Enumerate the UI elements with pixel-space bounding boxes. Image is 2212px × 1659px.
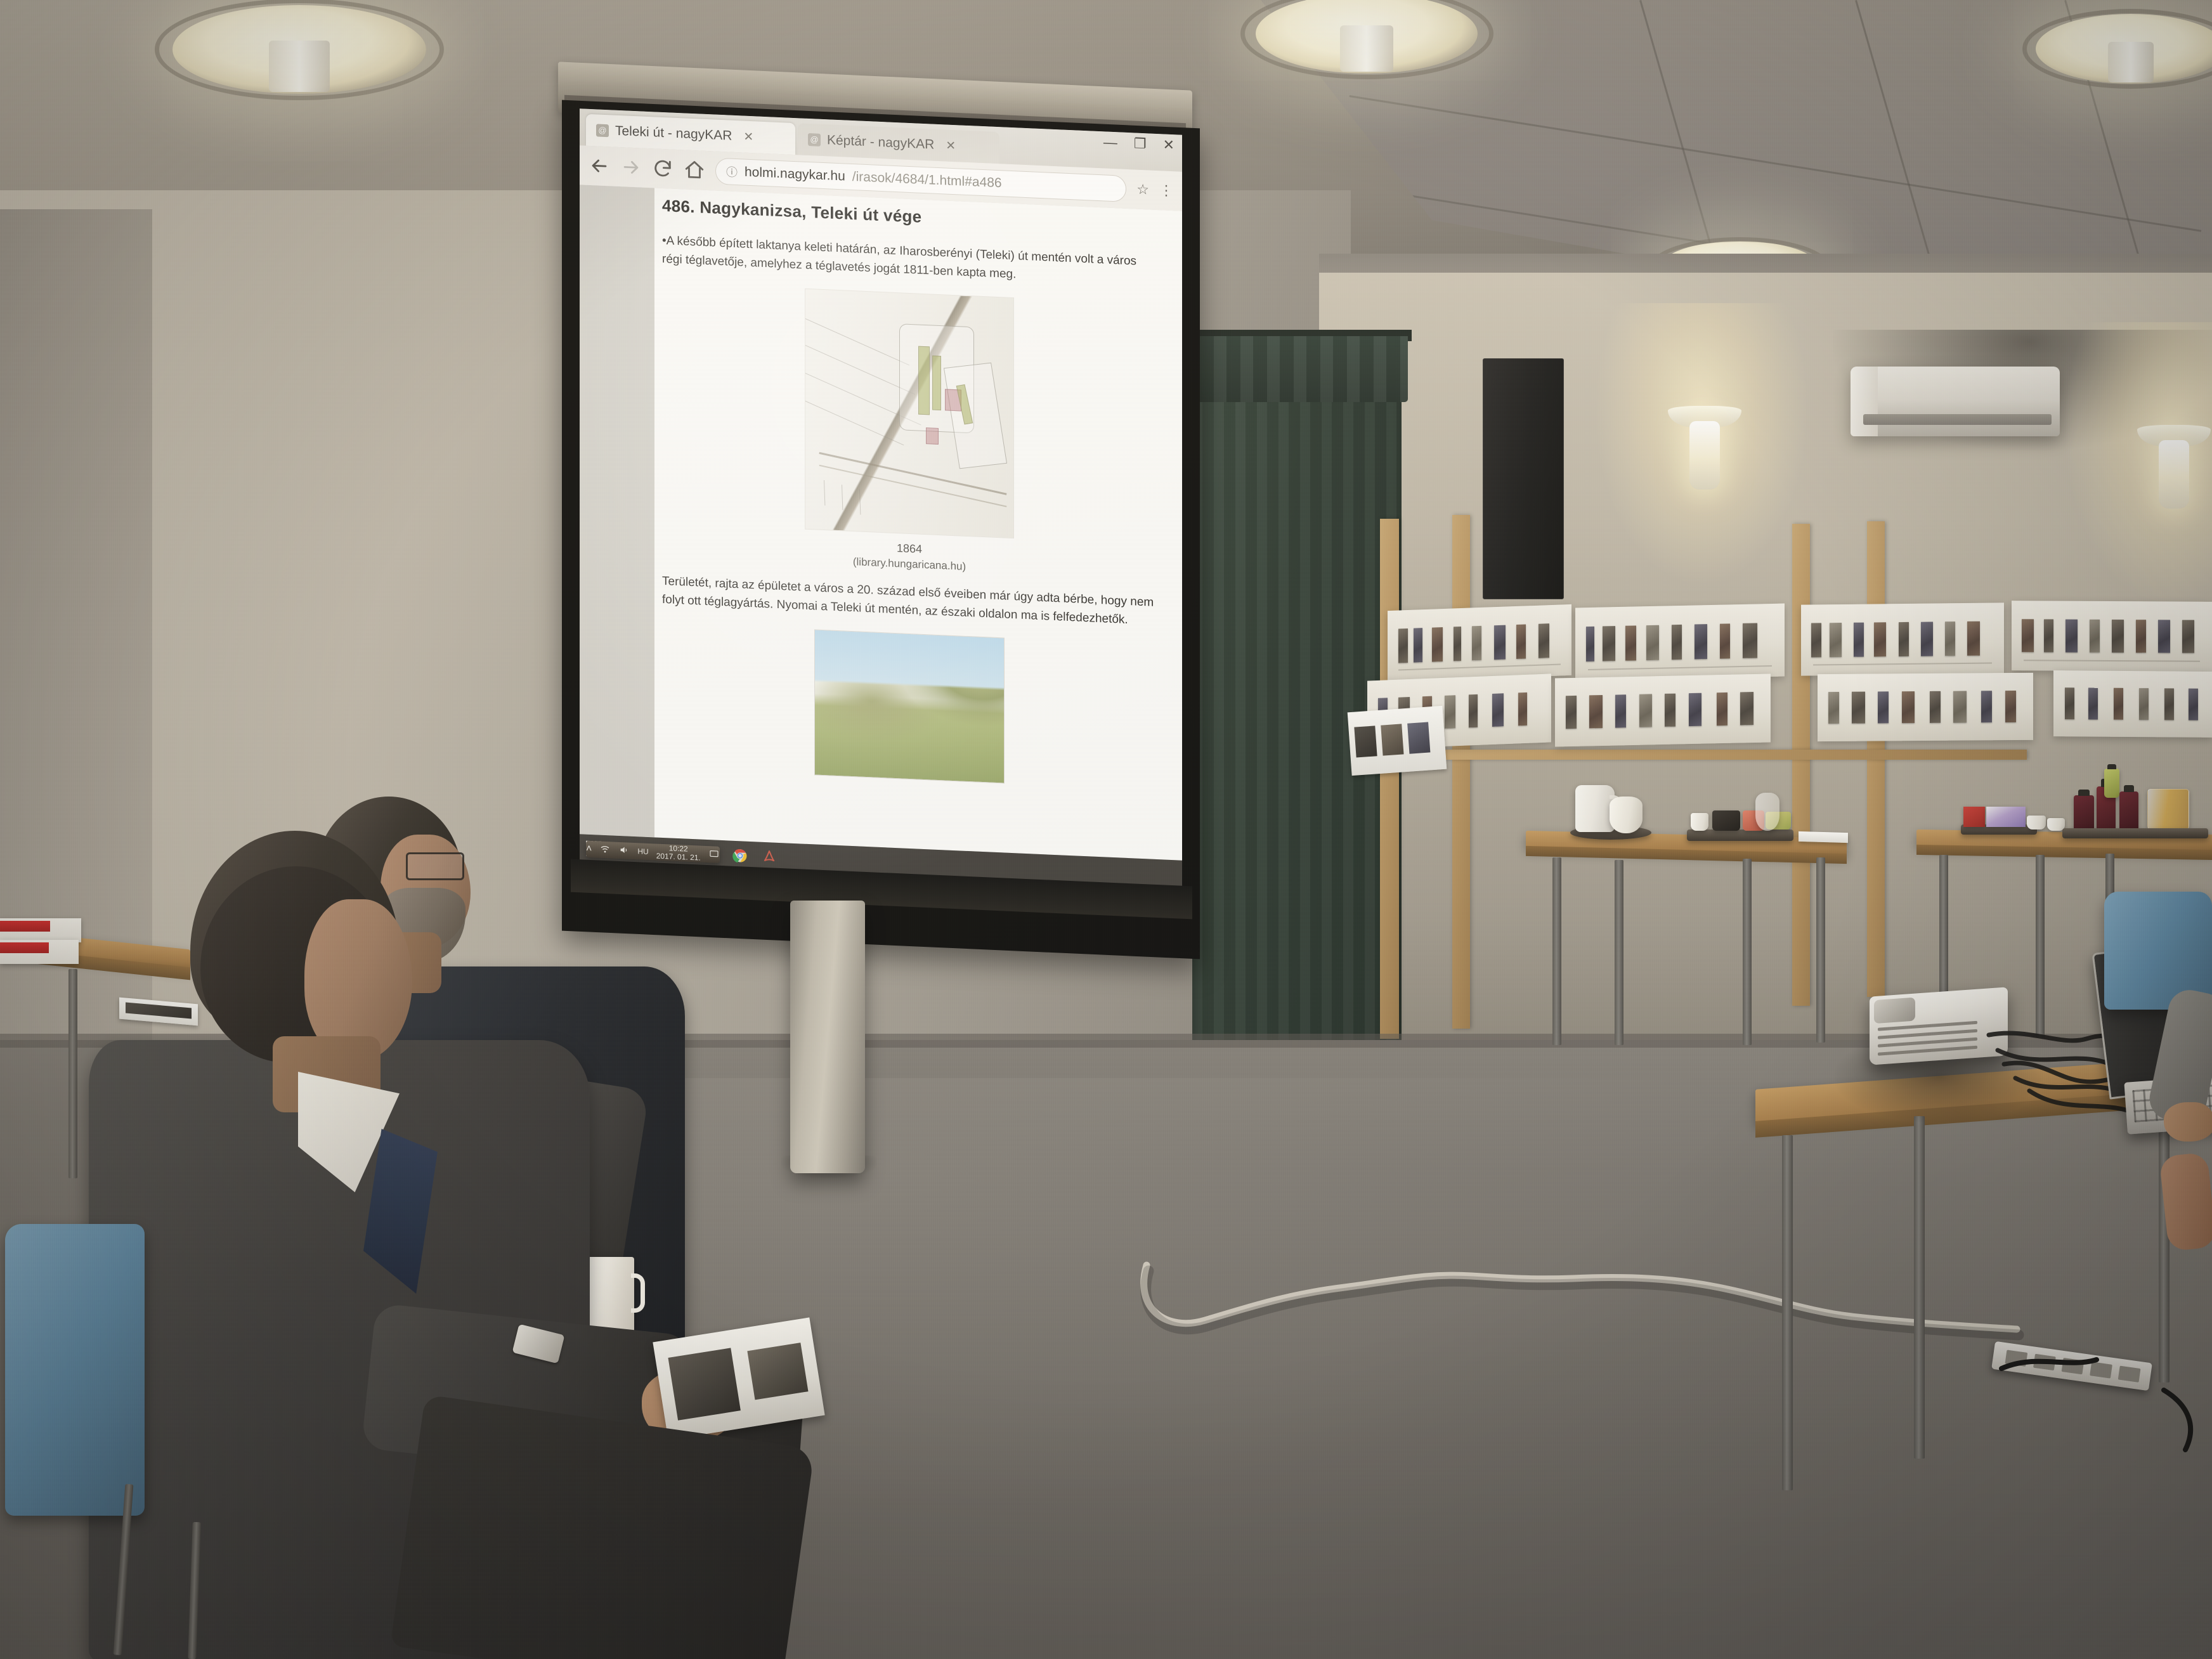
conference-room-scene: @ Teleki út - nagyKAR ✕ @ Képtár - nagyK… [0, 0, 2212, 1659]
bookmark-star-icon[interactable]: ☆ [1136, 181, 1149, 198]
wall-sconce-left [1654, 379, 1755, 506]
web-page-viewport: 486. Nagykanizsa, Teleki út vége •A késő… [580, 185, 1182, 860]
tab-close-icon[interactable]: ✕ [946, 138, 956, 153]
pinned-leaflet [1348, 706, 1447, 776]
presenter-desk-leg-2 [1914, 1116, 1925, 1459]
url-path: /irasok/4684/1.html#a486 [852, 169, 1002, 191]
downlight-3 [2036, 14, 2212, 84]
exhibit-strip-row2-c [1818, 673, 2033, 741]
exhibit-frame-1 [1380, 519, 1399, 1039]
home-icon[interactable] [684, 159, 705, 181]
wine-bottle-1 [2074, 795, 2094, 832]
video-projector [1870, 987, 2008, 1065]
projector-lens [1874, 998, 1915, 1024]
exhibit-strip-row1-c [1801, 602, 2004, 675]
meadow-photo-image [814, 629, 1005, 783]
booklet-photo-1 [668, 1348, 740, 1420]
reload-icon[interactable] [652, 157, 673, 179]
tray-overflow-icon[interactable]: ˄ [586, 843, 592, 855]
exhibit-frame-2 [1452, 515, 1470, 1029]
page-paragraph-2: Területét, rajta az épületet a város a 2… [662, 573, 1157, 630]
projected-image: @ Teleki út - nagyKAR ✕ @ Képtár - nagyK… [580, 108, 1182, 889]
coffee-cup-right-1 [2027, 816, 2046, 829]
projection-screen: @ Teleki út - nagyKAR ✕ @ Képtár - nagyK… [558, 76, 1211, 939]
booklet-photo-2 [747, 1343, 808, 1400]
chair-blue-front[interactable] [5, 1224, 145, 1516]
volume-icon[interactable] [618, 844, 630, 857]
split-air-conditioner [1851, 367, 2060, 436]
tab-label: Képtár - nagyKAR [827, 133, 934, 152]
maximize-button[interactable]: ❐ [1134, 135, 1147, 152]
side-table-left-leg [68, 969, 77, 1178]
close-window-button[interactable]: ✕ [1163, 136, 1174, 153]
napkin [1799, 831, 1848, 843]
green-bottle [2104, 769, 2119, 798]
book-stack-lower [0, 940, 79, 964]
acrobat-reader-button[interactable] [761, 849, 777, 866]
tab-favicon-icon: @ [596, 124, 609, 137]
chrome-menu-icon[interactable]: ⋮ [1159, 182, 1173, 199]
page-left-margin [580, 185, 654, 837]
coffee-cup-centre [1691, 813, 1708, 831]
cadastral-map-image [805, 289, 1014, 538]
chrome-button[interactable] [732, 847, 748, 864]
tab-favicon-icon: @ [808, 133, 821, 146]
refreshment-table-centre-leg-3 [1743, 859, 1752, 1045]
exhibit-strip-row1-a [1388, 604, 1571, 682]
network-icon[interactable] [599, 843, 611, 856]
bottle-tray-right [2062, 828, 2208, 838]
page-content: 486. Nagykanizsa, Teleki út vége •A késő… [662, 196, 1157, 806]
downlight-1 [172, 5, 426, 94]
exhibit-frame-3 [1792, 524, 1810, 1006]
refreshment-table-centre-leg-4 [1816, 857, 1825, 1043]
exhibit-strip-row1-d [2012, 601, 2212, 672]
exhibit-strip-row1-b [1575, 604, 1785, 681]
action-center-icon[interactable] [708, 849, 720, 861]
juice-pitcher [2147, 789, 2189, 832]
site-info-icon[interactable]: ⓘ [726, 163, 738, 180]
mug-handle [631, 1273, 645, 1313]
clock-date: 2017. 01. 21. [656, 852, 701, 862]
refreshment-table-centre-leg-2 [1615, 860, 1623, 1045]
minimize-button[interactable]: — [1103, 134, 1117, 151]
attendee-back-glasses [406, 852, 464, 880]
back-arrow-icon[interactable] [589, 155, 610, 177]
water-jug [1610, 797, 1643, 833]
glass-carafe-centre [1755, 793, 1779, 831]
exhibit-strip-row2-d [2053, 670, 2212, 738]
taskbar-clock[interactable]: 10:22 2017. 01. 21. [656, 844, 701, 862]
wall-sconce-right [2123, 398, 2212, 525]
wine-bottle-3 [2119, 791, 2138, 832]
refreshment-table-centre-leg-1 [1552, 857, 1561, 1045]
book-stack [0, 918, 81, 942]
screen-concrete-pillar [790, 901, 865, 1173]
tea-box-red [1963, 807, 1985, 827]
tab-close-icon[interactable]: ✕ [743, 129, 753, 145]
condiment-dark [1712, 810, 1740, 831]
presenter-hand [2164, 1102, 2212, 1142]
url-host: holmi.nagykar.hu [745, 165, 845, 185]
curtain-valance [1187, 336, 1408, 402]
serving-tray-right [1687, 829, 1793, 841]
language-icon[interactable]: HU [637, 847, 648, 856]
figure-map: 1864 (library.hungaricana.hu) [662, 282, 1157, 582]
wall-speaker [1483, 358, 1564, 599]
tea-box-purple [1986, 807, 2026, 827]
figure-photo [662, 623, 1157, 793]
refreshment-table-right-leg-2 [2036, 855, 2045, 1038]
system-tray: ˄ HU 10:22 2017. 01. 21. [586, 841, 720, 862]
page-paragraph-1: •A később épített laktanya keleti határá… [662, 232, 1157, 290]
exhibit-strip-row2-b [1555, 673, 1771, 746]
window-controls: — ❐ ✕ [1103, 134, 1174, 153]
electric-kettle [1575, 785, 1615, 832]
exhibit-frame-5 [1393, 750, 2027, 760]
presenter-desk-leg-1 [1782, 1135, 1793, 1490]
forward-arrow-icon [620, 156, 642, 178]
tab-label: Teleki út - nagyKAR [615, 124, 732, 144]
downlight-2 [1256, 0, 1478, 74]
